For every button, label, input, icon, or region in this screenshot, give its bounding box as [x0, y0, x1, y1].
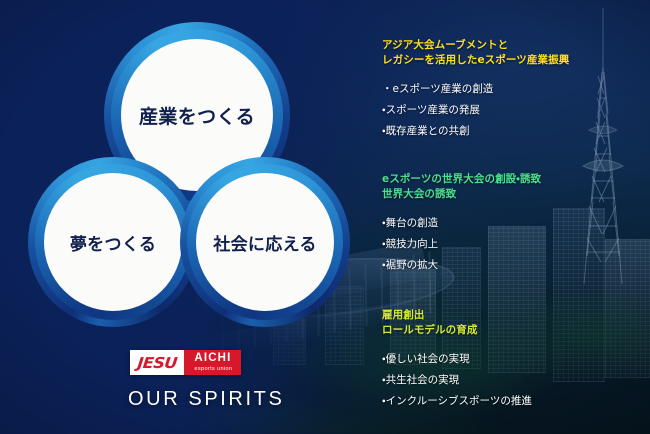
block-world-heading-line1: eスポーツの世界大会の創設・誘致 [382, 173, 541, 185]
concept-circles-group: 産業をつくる 夢をつくる 社会に応える [0, 0, 360, 330]
block-employment-heading-line2: ロールモデルの育成 [382, 324, 477, 336]
content-block-world: eスポーツの世界大会の創設・誘致 世界大会の誘致 ・舞台の創造 ・競技力向上 ・… [382, 172, 541, 276]
aichi-logo-subtitle: esports union [194, 365, 232, 373]
circle-dream[interactable]: 夢をつくる [28, 157, 198, 327]
list-item: ・共生社会の実現 [382, 370, 532, 391]
list-item: ・裾野の拡大 [382, 255, 541, 276]
block-industry-heading-line1: アジア大会ムーブメントと [382, 39, 508, 51]
list-item: ・スポーツ産業の発展 [382, 100, 569, 121]
list-item: ・既存産業との共創 [382, 121, 569, 142]
jesu-logo-text: JESU [137, 354, 178, 372]
circle-dream-core: 夢をつくる [44, 173, 182, 311]
content-block-industry: アジア大会ムーブメントと レガシーを活用したeスポーツ産業振興 ・eスポーツ産業… [382, 38, 569, 142]
aichi-logo-badge: AICHI esports union [184, 350, 241, 375]
block-employment-heading-line1: 雇用創出 [382, 309, 424, 321]
block-world-list: ・舞台の創造 ・競技力向上 ・裾野の拡大 [382, 213, 541, 276]
block-world-heading: eスポーツの世界大会の創設・誘致 世界大会の誘致 [382, 172, 541, 202]
circle-industry-label: 産業をつくる [139, 102, 255, 129]
jesu-aichi-logo: JESU AICHI esports union [130, 350, 241, 375]
block-industry-heading-line2: レガシーを活用したeスポーツ産業振興 [382, 54, 569, 66]
jesu-logo-badge: JESU [130, 350, 184, 375]
content-block-employment: 雇用創出 ロールモデルの育成 ・優しい社会の実現 ・共生社会の実現 ・インクルー… [382, 308, 532, 412]
block-employment-list: ・優しい社会の実現 ・共生社会の実現 ・インクルーシブスポーツの推進 [382, 349, 532, 412]
list-item: ・eスポーツ産業の創造 [382, 79, 569, 100]
list-item: ・競技力向上 [382, 234, 541, 255]
aichi-logo-title: AICHI [194, 353, 232, 364]
circle-society-core: 社会に応える [196, 173, 334, 311]
block-world-heading-line2: 世界大会の誘致 [382, 188, 456, 200]
slide-canvas: 産業をつくる 夢をつくる 社会に応える アジア大会ムーブメントと レガシーを活用… [0, 0, 650, 434]
block-industry-list: ・eスポーツ産業の創造 ・スポーツ産業の発展 ・既存産業との共創 [382, 79, 569, 142]
block-industry-heading: アジア大会ムーブメントと レガシーを活用したeスポーツ産業振興 [382, 38, 569, 68]
our-spirits-tagline: OUR SPIRITS [128, 388, 284, 411]
circle-dream-label: 夢をつくる [70, 230, 156, 255]
circle-society[interactable]: 社会に応える [180, 157, 350, 327]
circle-society-label: 社会に応える [213, 230, 317, 255]
list-item: ・優しい社会の実現 [382, 349, 532, 370]
block-employment-heading: 雇用創出 ロールモデルの育成 [382, 308, 532, 338]
list-item: ・舞台の創造 [382, 213, 541, 234]
list-item: ・インクルーシブスポーツの推進 [382, 391, 532, 412]
